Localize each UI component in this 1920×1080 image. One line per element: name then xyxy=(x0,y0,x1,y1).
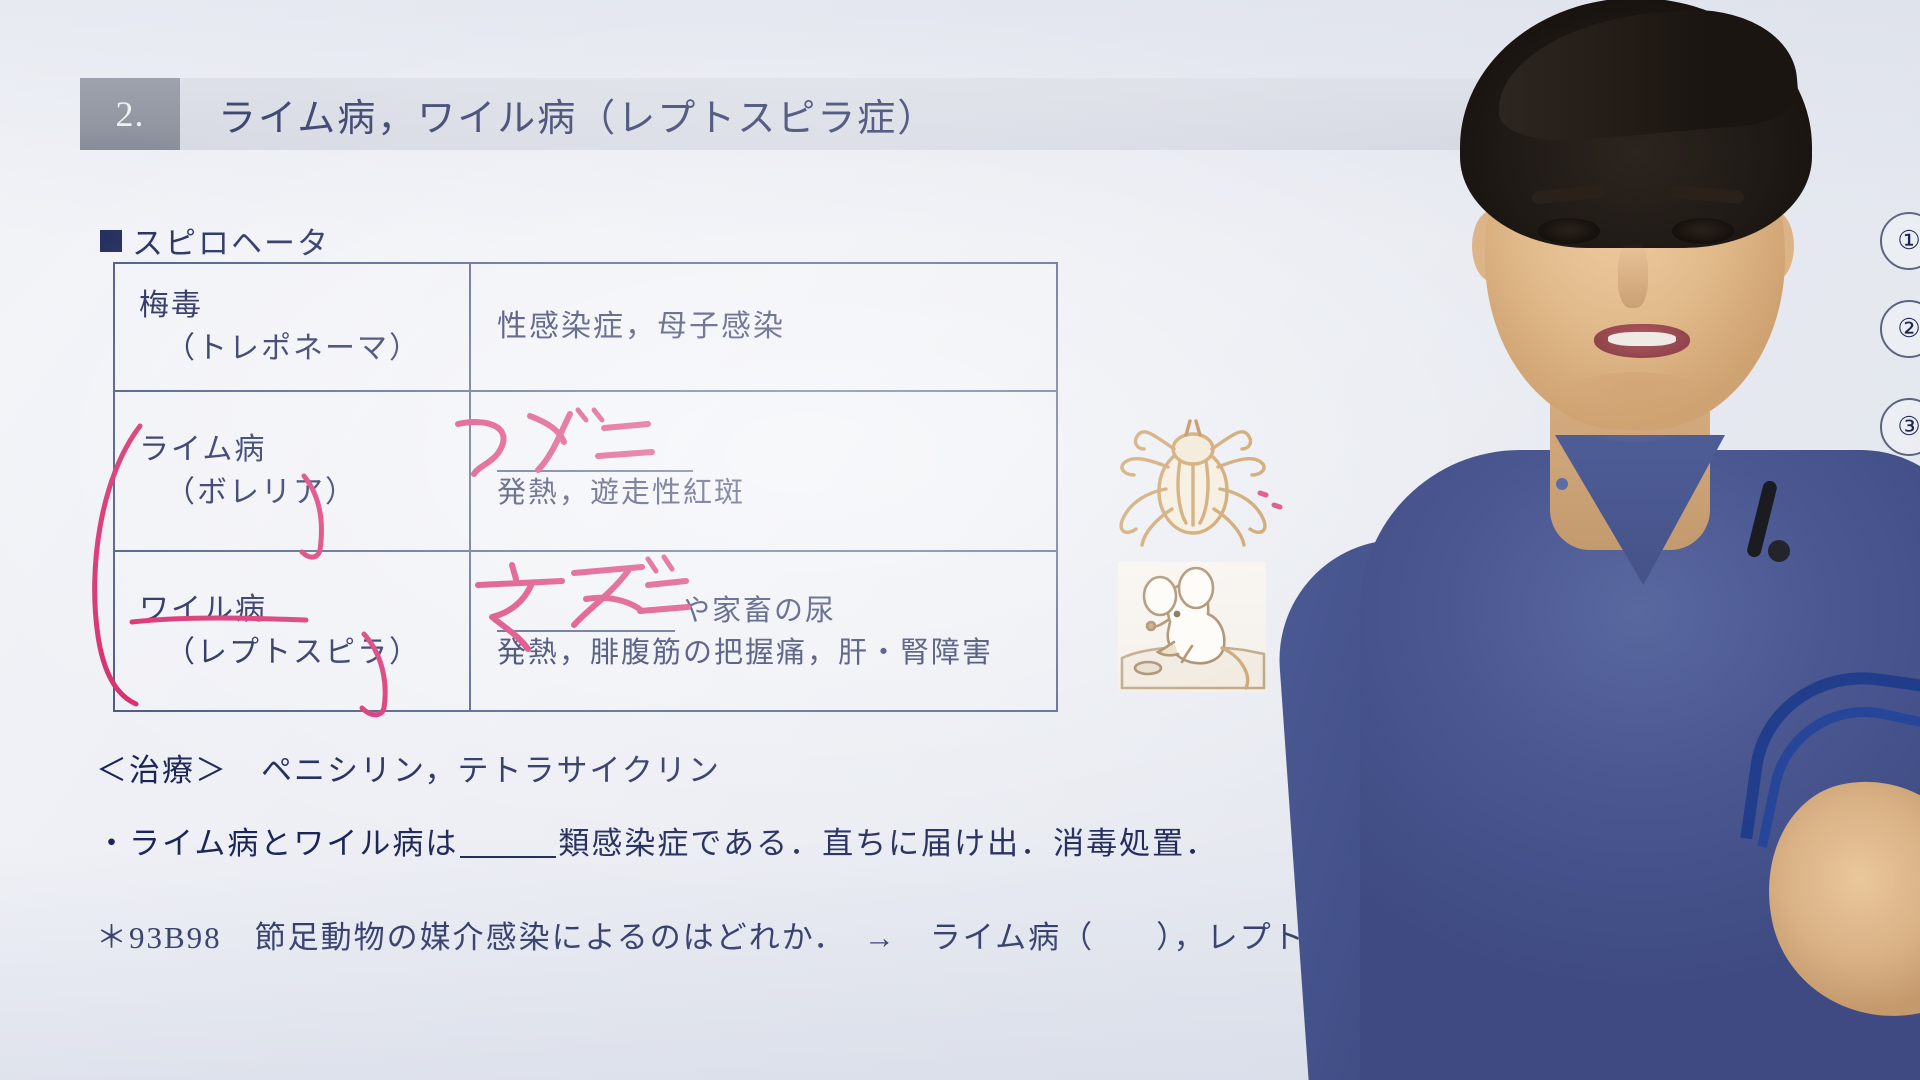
detail-text: 性感染症，母子感染 xyxy=(497,305,1056,349)
presenter-eye-right xyxy=(1672,218,1734,244)
bullet-line: ・ライム病とワイル病は類感染症である．直ちに届け出．消毒処置． xyxy=(96,818,1218,863)
disease-name: ワイル病 xyxy=(139,588,469,632)
table-cell-disease: 梅毒 （トレポネーマ） xyxy=(114,263,470,391)
presenter-shoulder-button xyxy=(1556,478,1568,490)
lecture-video-frame: 2. ライム病，ワイル病（レプトスピラ症） スピロヘータ 梅毒 （トレポネーマ）… xyxy=(0,0,1920,1080)
detail-text: 発熱，腓腹筋の把握痛，肝・腎障害 xyxy=(497,632,1056,674)
table-row: ワイル病 （レプトスピラ） や家畜の尿 発熱，腓腹筋の把握痛，肝・腎障害 xyxy=(114,551,1057,711)
section-heading: スピロヘータ xyxy=(100,218,330,263)
disease-name: ライム病 xyxy=(139,428,469,472)
bullet-line-suffix: 類感染症である．直ちに届け出．消毒処置． xyxy=(558,826,1218,861)
fill-in-blank-slot xyxy=(497,428,693,472)
presenter xyxy=(1300,0,1920,1080)
fill-in-blank-slot xyxy=(497,588,675,632)
fill-in-blank-underline xyxy=(460,826,556,858)
disease-name: 梅毒 xyxy=(139,284,469,328)
table-cell-detail: 性感染症，母子感染 xyxy=(470,263,1057,391)
presenter-nose xyxy=(1618,242,1648,308)
detail-text: 発熱，遊走性紅斑 xyxy=(497,472,1056,514)
table-row: ライム病 （ボレリア） 発熱，遊走性紅斑 xyxy=(114,391,1057,551)
table-cell-detail: 発熱，遊走性紅斑 xyxy=(470,391,1057,551)
treatment-line: ＜治療＞ ペニシリン，テトラサイクリン xyxy=(96,745,721,790)
table-row: 梅毒 （トレポネーマ） 性感染症，母子感染 xyxy=(114,263,1057,391)
mouse-illustration xyxy=(1118,562,1266,692)
spirochete-table: 梅毒 （トレポネーマ） 性感染症，母子感染 ライム病 （ボレリア） 発熱，遊走性… xyxy=(113,262,1058,712)
agent-name: （レプトスピラ） xyxy=(139,631,469,675)
presenter-chin-shadow xyxy=(1550,372,1720,442)
table-cell-disease: ライム病 （ボレリア） xyxy=(114,391,470,551)
table-cell-detail: や家畜の尿 発熱，腓腹筋の把握痛，肝・腎障害 xyxy=(470,551,1057,711)
exam-question-line: ＊93B98 節足動物の媒介感染によるのはどれか． → ライム病（），レプトスピ xyxy=(96,912,1372,957)
section-number-badge: 2. xyxy=(80,78,180,150)
tick-illustration xyxy=(1108,405,1278,555)
agent-name: （トレポネーマ） xyxy=(139,327,469,371)
section-heading-label: スピロヘータ xyxy=(132,218,330,263)
question-prefix: ＊93B98 節足動物の媒介感染によるのはどれか． → ライム病（ xyxy=(96,920,1094,955)
bullet-line-prefix: ・ライム病とワイル病は xyxy=(96,826,458,861)
presenter-teeth xyxy=(1608,332,1676,346)
agent-name: （ボレリア） xyxy=(139,471,469,515)
detail-text-top: や家畜の尿 xyxy=(497,588,1056,632)
detail-suffix: や家畜の尿 xyxy=(681,595,836,627)
presenter-eye-left xyxy=(1538,218,1600,244)
table-cell-disease: ワイル病 （レプトスピラ） xyxy=(114,551,470,711)
filled-square-bullet-icon xyxy=(100,230,122,252)
lapel-microphone-head xyxy=(1768,540,1790,562)
